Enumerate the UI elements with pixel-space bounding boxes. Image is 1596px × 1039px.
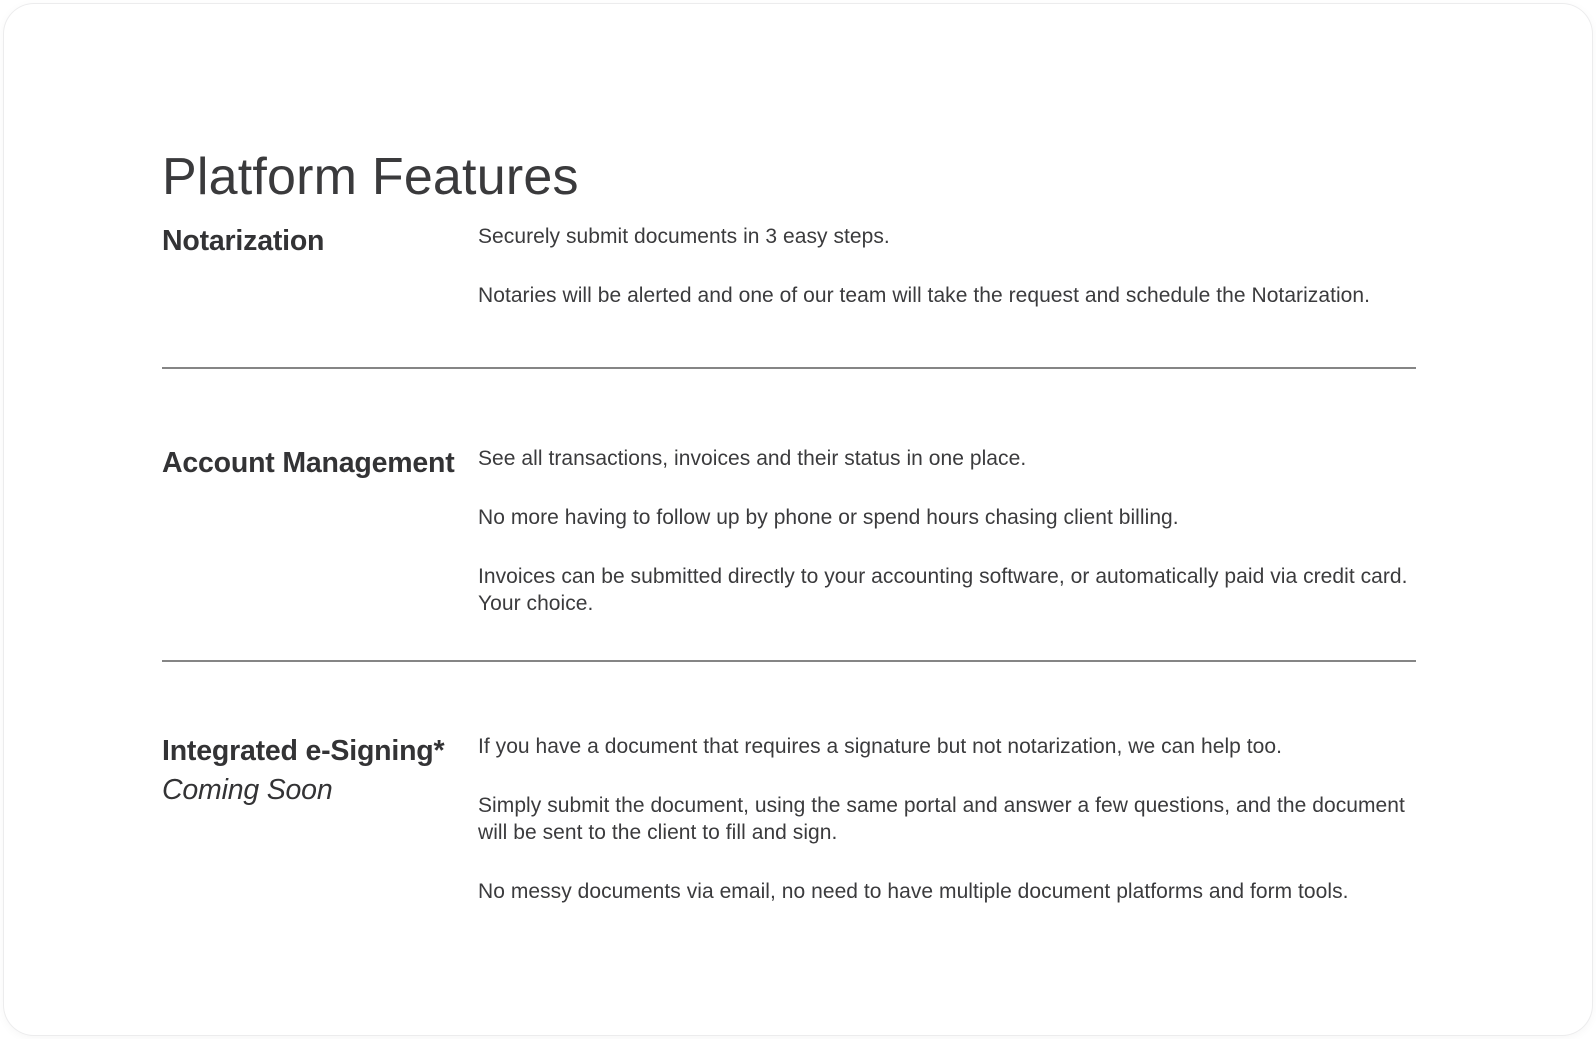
feature-body: Securely submit documents in 3 easy step…: [478, 222, 1416, 310]
feature-paragraph: Securely submit documents in 3 easy step…: [478, 224, 1416, 251]
feature-paragraph: Simply submit the document, using the sa…: [478, 793, 1416, 847]
feature-section-notarization: Notarization Securely submit documents i…: [162, 222, 1416, 310]
feature-heading-group: Notarization: [162, 222, 478, 261]
feature-title: Integrated e-Signing*: [162, 732, 462, 771]
feature-title: Notarization: [162, 222, 462, 261]
feature-paragraph: Notaries will be alerted and one of our …: [478, 283, 1416, 310]
feature-heading-group: Account Management: [162, 444, 478, 483]
feature-title: Account Management: [162, 444, 462, 483]
feature-card: Platform Features Notarization Securely …: [4, 4, 1592, 1035]
feature-paragraph: See all transactions, invoices and their…: [478, 446, 1416, 473]
page-title: Platform Features: [162, 148, 579, 208]
feature-subtitle-coming-soon: Coming Soon: [162, 771, 462, 810]
feature-paragraph: If you have a document that requires a s…: [478, 734, 1416, 761]
feature-heading-group: Integrated e-Signing* Coming Soon: [162, 732, 478, 810]
section-divider: [162, 660, 1416, 662]
feature-paragraph: Invoices can be submitted directly to yo…: [478, 564, 1416, 618]
section-divider: [162, 367, 1416, 369]
feature-body: If you have a document that requires a s…: [478, 732, 1416, 906]
feature-body: See all transactions, invoices and their…: [478, 444, 1416, 618]
feature-paragraph: No messy documents via email, no need to…: [478, 879, 1416, 906]
feature-section-account-management: Account Management See all transactions,…: [162, 444, 1416, 618]
feature-section-integrated-e-signing: Integrated e-Signing* Coming Soon If you…: [162, 732, 1416, 906]
feature-paragraph: No more having to follow up by phone or …: [478, 505, 1416, 532]
